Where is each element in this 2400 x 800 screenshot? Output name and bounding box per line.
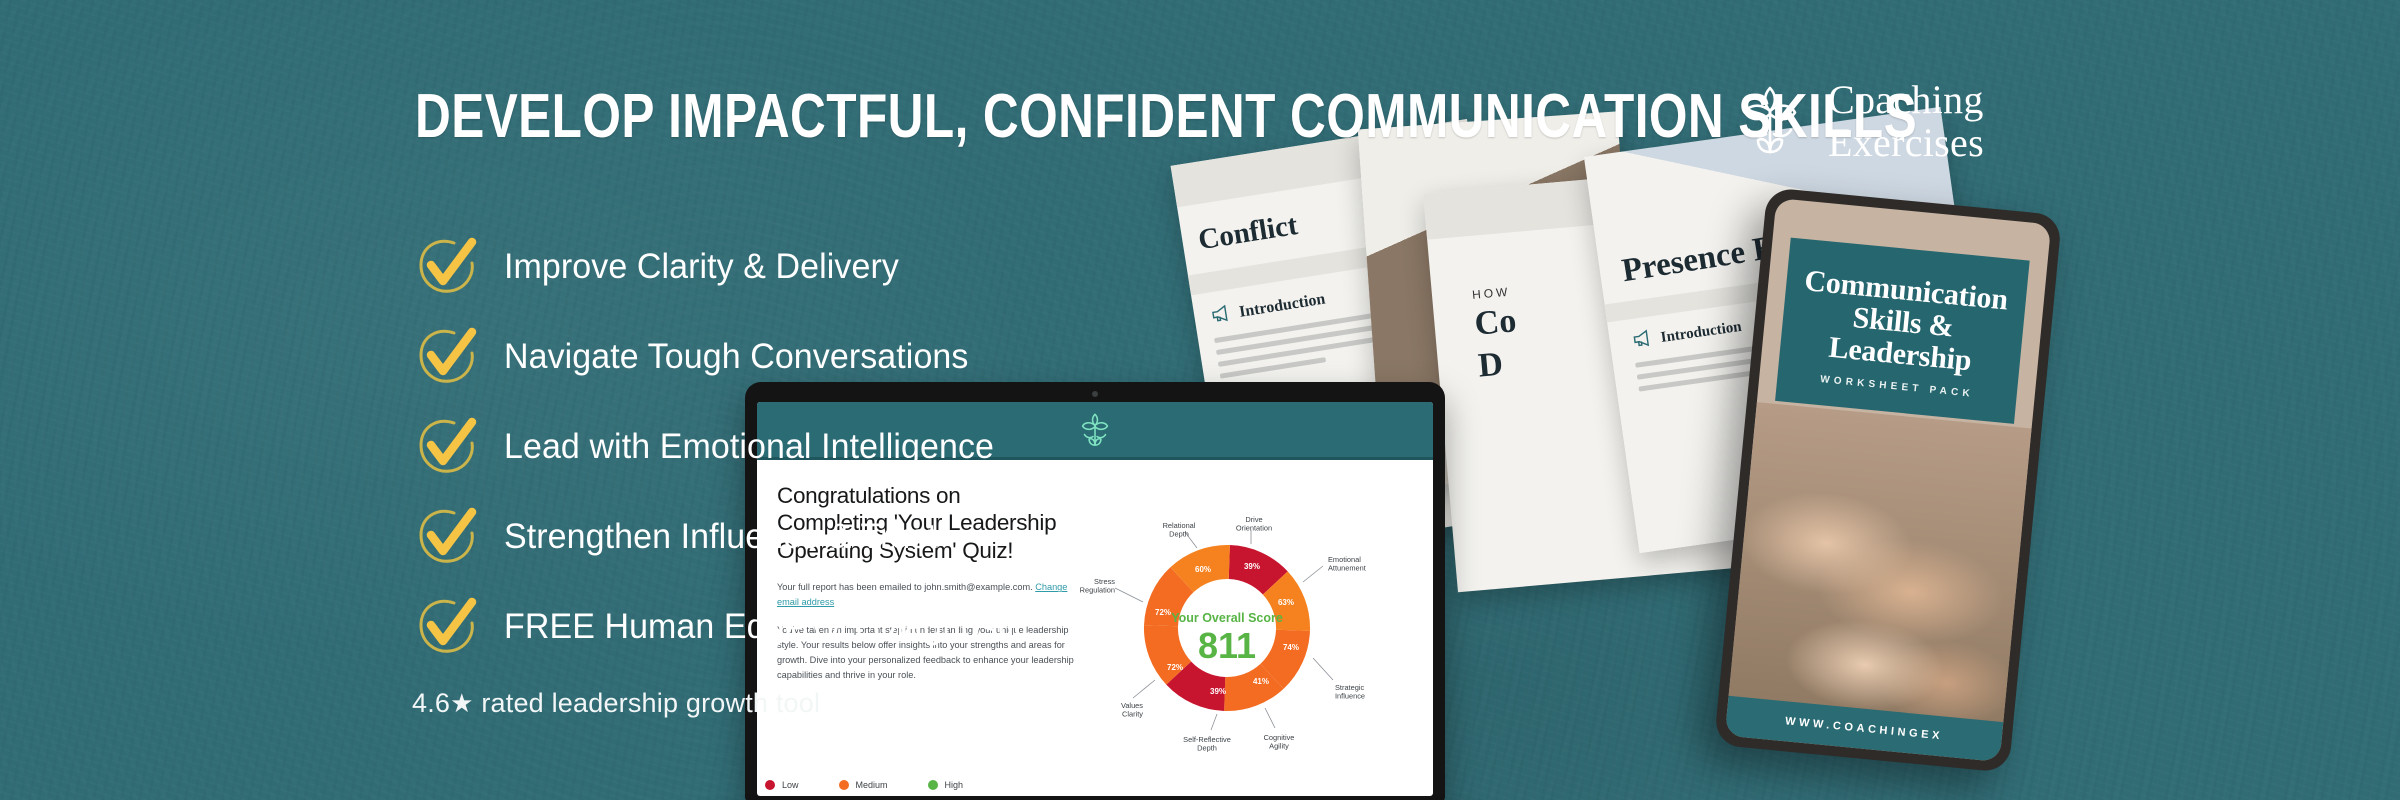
score-center-value: 811 — [1198, 625, 1256, 666]
segment-label-3: CognitiveAgility — [1264, 733, 1295, 750]
list-item: Navigate Tough Conversations — [410, 312, 1130, 402]
rating-score: 4.6 — [412, 688, 450, 718]
segment-value-0: 39% — [1244, 562, 1260, 571]
check-circle-icon — [410, 232, 488, 302]
benefit-label: Navigate Tough Conversations — [504, 337, 968, 377]
rating-text: 4.6★ rated leadership growth tool — [412, 688, 820, 719]
megaphone-icon-2 — [1631, 328, 1655, 349]
benefit-label: Strengthen Influence & Trust — [504, 517, 937, 557]
brand-name-line1: Coaching — [1828, 78, 1984, 121]
lotus-tree-icon — [1730, 82, 1810, 160]
segment-value-2: 74% — [1283, 643, 1299, 652]
page-title: DEVELOP IMPACTFUL, CONFIDENT COMMUNICATI… — [415, 86, 1917, 148]
benefit-label: FREE Human Edge OS Diagnostic — [504, 607, 1031, 647]
segment-value-5: 72% — [1167, 663, 1183, 672]
list-item: FREE Human Edge OS Diagnostic — [410, 582, 1130, 672]
check-circle-icon — [410, 412, 488, 482]
worksheet-pack-cover: Communication Skills & Leadership WORKSH… — [1775, 238, 2030, 425]
star-icon: ★ — [450, 688, 474, 718]
segment-label-2: StrategicInfluence — [1335, 683, 1365, 700]
brand-name: Coaching Exercises — [1828, 78, 1984, 164]
segment-label-7: RelationalDepth — [1163, 521, 1196, 538]
segment-value-3: 41% — [1253, 677, 1269, 686]
list-item: Improve Clarity & Delivery — [410, 222, 1130, 312]
copy-column: DEVELOP IMPACTFUL, CONFIDENT COMMUNICATI… — [0, 0, 1160, 800]
brand-name-line2: Exercises — [1828, 121, 1984, 164]
segment-value-1: 63% — [1278, 598, 1294, 607]
megaphone-icon — [1209, 303, 1234, 324]
segment-value-7: 60% — [1195, 565, 1211, 574]
check-circle-icon — [410, 502, 488, 572]
check-circle-icon — [410, 592, 488, 662]
benefit-label: Lead with Emotional Intelligence — [504, 427, 994, 467]
segment-label-4: Self-ReflectiveDepth — [1183, 735, 1231, 752]
tablet-mockup: Communication Skills & Leadership WORKSH… — [1714, 187, 2062, 773]
benefits-list: Improve Clarity & Delivery Navigate Toug… — [410, 222, 1130, 672]
tablet-screen: Communication Skills & Leadership WORKSH… — [1725, 198, 2051, 762]
segment-value-4: 39% — [1210, 687, 1226, 696]
promotional-banner: Conflict Introduction HOW Co D Presence … — [0, 0, 2400, 800]
segment-label-0: DriveOrientation — [1236, 515, 1272, 532]
list-item: Strengthen Influence & Trust — [410, 492, 1130, 582]
segment-label-1: EmotionalAttunement — [1328, 555, 1366, 572]
check-circle-icon — [410, 322, 488, 392]
brand-logo: Coaching Exercises — [1730, 78, 1984, 164]
product-imagery-stage: Conflict Introduction HOW Co D Presence … — [1040, 150, 2400, 800]
score-center-label: Your Overall Score — [1171, 611, 1283, 625]
worksheet-pack-title: Communication Skills & Leadership — [1795, 265, 2011, 380]
benefit-label: Improve Clarity & Delivery — [504, 247, 899, 287]
rating-caption: rated leadership growth tool — [474, 688, 821, 718]
list-item: Lead with Emotional Intelligence — [410, 402, 1130, 492]
